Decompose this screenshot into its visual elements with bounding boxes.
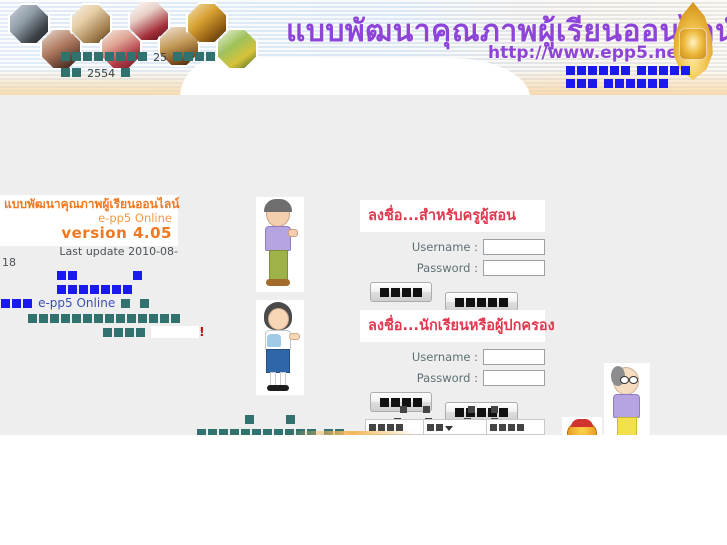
banner-date-year: 2554 [87, 67, 115, 80]
cartoon-schoolgirl [256, 300, 304, 395]
student-username-label: Username : [412, 350, 478, 364]
student-password-input[interactable] [483, 370, 545, 386]
cartoon-teacher-man [256, 197, 304, 292]
page-root: แบบพัฒนาคุณภาพผู้เรียนออนไลน์ http://www… [0, 0, 727, 545]
last-update-label: Last update 2010-08- [0, 245, 178, 258]
room-select[interactable] [489, 422, 534, 433]
banner-tofu-text-left: 25 2554 [60, 48, 300, 80]
page-body: แบบพัฒนาคุณภาพผู้เรียนออนไลน์ e-pp5 Onli… [0, 95, 727, 435]
banner-url[interactable]: http://www.epp5.net/ [488, 43, 692, 63]
student-username-input[interactable] [483, 349, 545, 365]
version-card-thai-title: แบบพัฒนาคุณภาพผู้เรียนออนไลน์ [4, 198, 172, 212]
teacher-password-row: Password : [360, 260, 545, 276]
chevron-down-icon[interactable] [445, 426, 453, 431]
teacher-username-input[interactable] [483, 239, 545, 255]
left-nav-row-3[interactable]: e-pp5 Online [0, 295, 235, 310]
teacher-form-title: ลงชื่อ...สำหรับครูผู้สอน [360, 200, 545, 232]
left-nav-exclaim: ! [199, 325, 204, 339]
teacher-login-button[interactable] [370, 282, 432, 302]
student-password-label: Password : [417, 371, 478, 385]
banner-tofu-text-right [565, 62, 727, 88]
page-white-tail [0, 435, 727, 545]
teacher-login-form: ลงชื่อ...สำหรับครูผู้สอน Username : Pass… [360, 200, 545, 316]
left-nav-search-input[interactable] [151, 326, 199, 338]
student-form-title: ลงชื่อ...นักเรียนหรือผู้ปกครอง [360, 310, 545, 342]
left-nav-row-1[interactable] [0, 267, 235, 281]
student-username-row: Username : [360, 349, 545, 365]
selector-cell-level[interactable] [424, 420, 486, 435]
selector-cell-room[interactable] [486, 420, 544, 435]
banner-date-day: 25 [153, 51, 167, 64]
teacher-username-label: Username : [412, 240, 478, 254]
left-nav-row-4[interactable] [0, 310, 235, 324]
level-select[interactable] [426, 422, 453, 433]
teacher-password-label: Password : [417, 261, 478, 275]
version-card: แบบพัฒนาคุณภาพผู้เรียนออนไลน์ e-pp5 Onli… [0, 195, 178, 246]
version-card-version: version 4.05 [4, 225, 172, 242]
teacher-password-input[interactable] [483, 260, 545, 276]
left-nav-brand-label: e-pp5 Online [38, 296, 115, 310]
left-nav-menu[interactable]: e-pp5 Online ! [0, 267, 235, 339]
site-banner: แบบพัฒนาคุณภาพผู้เรียนออนไลน์ http://www… [0, 0, 727, 95]
student-password-row: Password : [360, 370, 545, 386]
left-nav-row-5[interactable]: ! [0, 324, 235, 339]
teacher-username-row: Username : [360, 239, 545, 255]
teacher-register-button[interactable] [445, 292, 518, 312]
